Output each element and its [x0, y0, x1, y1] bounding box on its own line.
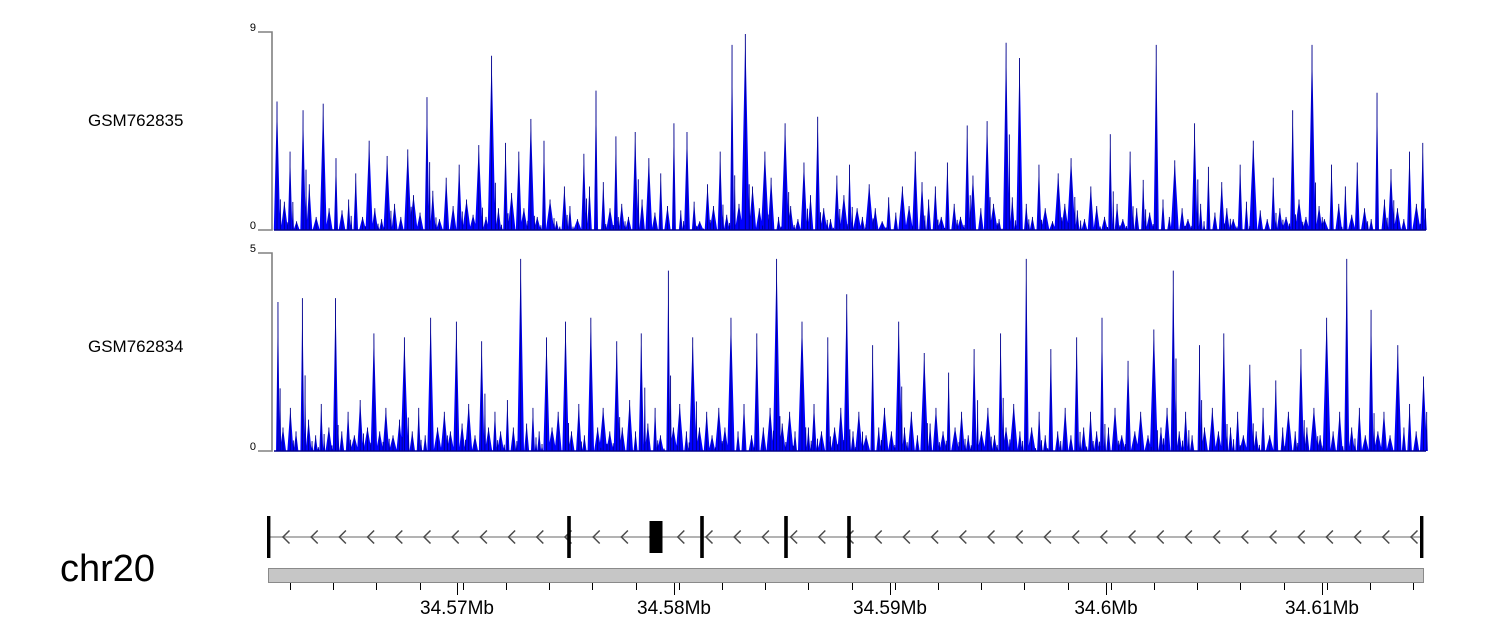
ruler-minor-tick: [1111, 583, 1112, 590]
ruler-tick-label: 34.57Mb: [420, 598, 494, 620]
ruler-minor-tick: [1068, 583, 1069, 590]
gene-start-boundary: [267, 516, 270, 558]
ruler-tick-label: 34.59Mb: [853, 598, 927, 620]
ruler-minor-tick: [765, 583, 766, 590]
chromosome-label: chr20: [60, 548, 155, 591]
ruler-major-tick: [674, 583, 675, 595]
ruler-minor-tick: [592, 583, 593, 590]
ruler-minor-tick: [981, 583, 982, 590]
ruler-minor-tick: [333, 583, 334, 590]
ruler-minor-tick: [549, 583, 550, 590]
ruler-minor-tick: [1413, 583, 1414, 590]
ruler-minor-tick: [679, 583, 680, 590]
ruler-minor-tick: [1154, 583, 1155, 590]
ruler-minor-tick: [852, 583, 853, 590]
ruler-tick-label: 34.58Mb: [637, 598, 711, 620]
ruler-minor-tick: [1197, 583, 1198, 590]
ruler-minor-tick: [463, 583, 464, 590]
gene-model-track[interactable]: [0, 0, 1500, 600]
genome-ruler-bar[interactable]: [268, 568, 1424, 583]
ruler-minor-tick: [636, 583, 637, 590]
ruler-minor-tick: [895, 583, 896, 590]
ruler-tick-label: 34.61Mb: [1285, 598, 1359, 620]
genome-browser-figure: GSM762835 9 0 GSM762834 5 0 chr20 34.57M…: [0, 0, 1500, 640]
ruler-minor-tick: [1240, 583, 1241, 590]
ruler-major-tick: [890, 583, 891, 595]
gene-exon-block: [784, 516, 788, 558]
ruler-minor-tick: [376, 583, 377, 590]
ruler-major-tick: [457, 583, 458, 595]
ruler-minor-tick: [290, 583, 291, 590]
ruler-minor-tick: [808, 583, 809, 590]
ruler-major-tick: [1106, 583, 1107, 595]
ruler-major-tick: [1322, 583, 1323, 595]
ruler-tick-label: 34.6Mb: [1074, 598, 1137, 620]
ruler-minor-tick: [506, 583, 507, 590]
ruler-minor-tick: [1327, 583, 1328, 590]
gene-exon-block: [847, 516, 851, 558]
ruler-minor-tick: [420, 583, 421, 590]
ruler-minor-tick: [1024, 583, 1025, 590]
ruler-minor-tick: [938, 583, 939, 590]
gene-exon-block: [700, 516, 704, 558]
gene-end-boundary: [1420, 516, 1423, 558]
gene-exon-block: [567, 516, 571, 558]
ruler-minor-tick: [1284, 583, 1285, 590]
gene-exon-block-wide: [650, 521, 663, 553]
ruler-minor-tick: [722, 583, 723, 590]
ruler-minor-tick: [1370, 583, 1371, 590]
